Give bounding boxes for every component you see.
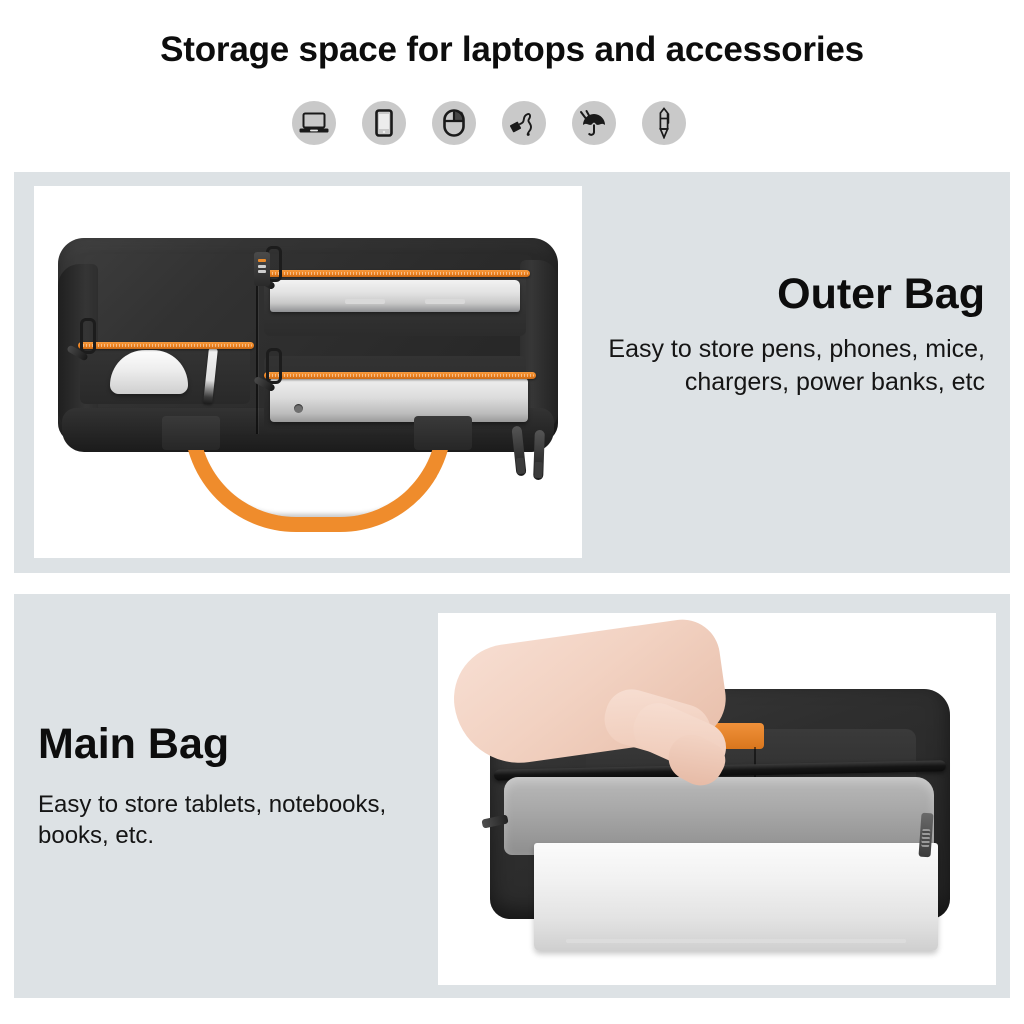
main-zipper-pull-b [533,430,545,480]
phone-icon [362,101,406,145]
main-bag-copy: Main Bag Easy to store tablets, notebook… [38,722,418,852]
laptop-sleeve-flat [58,238,558,478]
header: Storage space for laptops and accessorie… [0,0,1024,160]
main-zipper-pull-a [511,426,526,477]
handle-strap-left [162,416,220,450]
carry-handle [184,420,452,484]
handle-strap-right [414,416,472,450]
zipper-loop-left [80,318,96,354]
mouse-icon [432,101,476,145]
zipper-teeth [80,344,252,347]
main-zipper-pulls [510,426,570,488]
outer-bag-copy: Outer Bag Easy to store pens, phones, mi… [585,272,985,398]
main-bag-heading: Main Bag [38,722,418,767]
main-bag-description: Easy to store tablets, notebooks, books,… [38,789,418,851]
outer-bag-heading: Outer Bag [585,272,985,317]
main-bag-photo [438,613,996,985]
umbrella-icon [572,101,616,145]
zipper-loop-lower [266,348,282,384]
page-title: Storage space for laptops and accessorie… [0,30,1024,70]
panel-outer-bag: Outer Bag Easy to store pens, phones, mi… [14,172,1010,573]
feature-icon-row [292,99,732,147]
panel-main-bag: Main Bag Easy to store tablets, notebook… [14,594,1010,998]
tablet-lower-item [270,378,528,422]
zipper-teeth [266,272,528,275]
charger-cable-icon [502,101,546,145]
laptop-sleeve-open [468,635,968,965]
tablet-upper-item [270,280,520,312]
pen-icon [642,101,686,145]
zipper-teeth [266,374,534,377]
hand [454,633,774,803]
laptop-item [534,843,938,951]
laptop-icon [292,101,336,145]
outer-bag-photo [34,186,582,558]
outer-bag-description: Easy to store pens, phones, mice, charge… [585,333,985,398]
infographic-page: Storage space for laptops and accessorie… [0,0,1024,1024]
tablet-port [294,404,303,413]
brand-label-tab [254,252,270,286]
